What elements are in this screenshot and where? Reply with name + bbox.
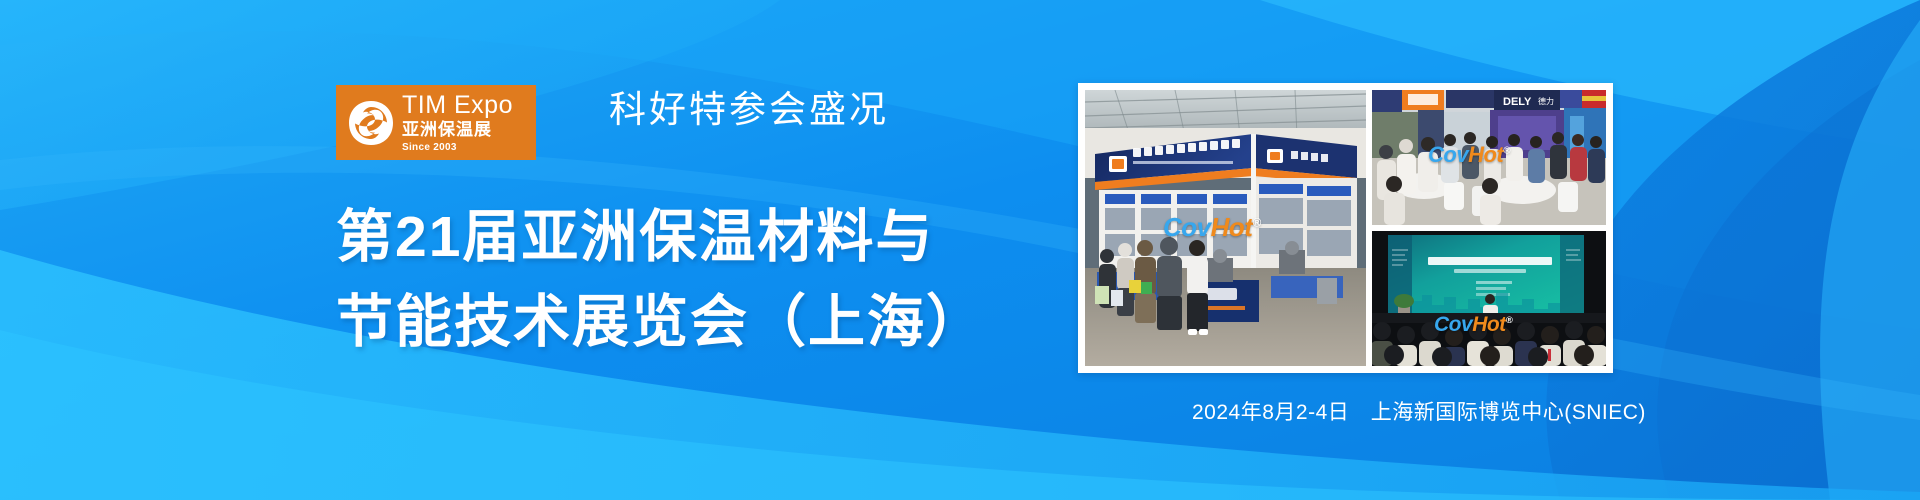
logo-chinese-name: 亚洲保温展 <box>402 121 513 138</box>
photo-collage: CovHot® <box>1078 83 1613 373</box>
logo-english-name: TIM Expo <box>402 93 513 118</box>
visitor-crowd-photo: DELY 德力 <box>1372 90 1606 225</box>
svg-text:DELY: DELY <box>1503 96 1532 108</box>
svg-text:德力: 德力 <box>1538 96 1554 106</box>
title-line-1: 第21届亚洲保温材料与 <box>336 195 985 280</box>
collage-right-column: DELY 德力 <box>1372 90 1606 366</box>
date-venue-text: 2024年8月2-4日 上海新国际博览中心(SNIEC) <box>1192 396 1646 426</box>
logo-text-block: TIM Expo 亚洲保温展 Since 2003 <box>402 93 513 153</box>
logo-since-label: Since 2003 <box>402 143 513 153</box>
tim-expo-logo-badge[interactable]: TIM Expo 亚洲保温展 Since 2003 <box>336 85 536 160</box>
page-title: 第21届亚洲保温材料与 节能技术展览会（上海） <box>336 195 985 365</box>
exhibition-booth-photo: CovHot® <box>1085 90 1366 366</box>
forum-stage-photo: CovHot® <box>1372 231 1606 366</box>
title-line-2: 节能技术展览会（上海） <box>336 280 985 365</box>
tim-expo-swirl-icon <box>346 98 396 148</box>
expo-banner: TIM Expo 亚洲保温展 Since 2003 科好特参会盛况 第21届亚洲… <box>0 0 1920 500</box>
subhead-text: 科好特参会盛况 <box>609 79 889 133</box>
